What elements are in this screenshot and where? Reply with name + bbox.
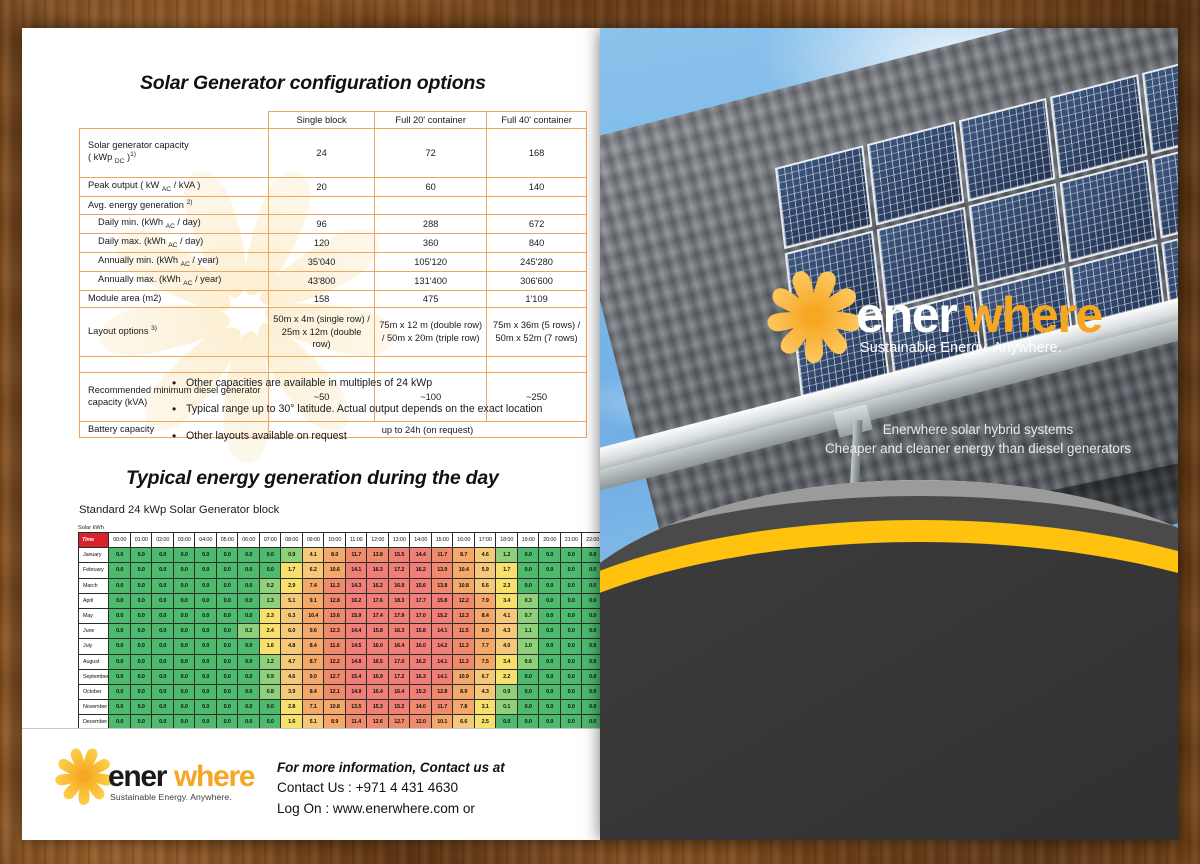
heatmap-cell: 0.0 bbox=[216, 608, 238, 623]
heatmap-cell: 0.0 bbox=[539, 639, 561, 654]
heatmap-cell: 0.0 bbox=[539, 578, 561, 593]
heatmap-cell: 14.5 bbox=[345, 639, 367, 654]
heatmap-cell: 4.6 bbox=[281, 669, 303, 684]
heatmap-cell: 0.0 bbox=[109, 548, 131, 563]
heatmap-month-label: August bbox=[79, 654, 109, 669]
heatmap-cell: 13.5 bbox=[345, 700, 367, 715]
heatmap-cell: 13.8 bbox=[431, 578, 453, 593]
config-row-value: 131'400 bbox=[375, 272, 487, 291]
heatmap-cell: 0.0 bbox=[130, 563, 152, 578]
config-row-value: 1'109 bbox=[487, 291, 587, 308]
heatmap-cell: 14.1 bbox=[431, 654, 453, 669]
heatmap-cell: 16.2 bbox=[345, 593, 367, 608]
config-row-value: 75m x 12 m (double row) / 50m x 20m (tri… bbox=[375, 307, 487, 356]
config-row-value: 35'040 bbox=[269, 252, 375, 271]
heatmap-cell: 0.0 bbox=[130, 669, 152, 684]
heatmap-cell: 0.0 bbox=[582, 578, 600, 593]
heatmap-cell: 6.6 bbox=[474, 578, 496, 593]
heatmap-cell: 0.0 bbox=[238, 669, 260, 684]
table-header-row: Single block Full 20' container Full 40'… bbox=[80, 112, 587, 129]
heatmap-cell: 0.0 bbox=[152, 608, 174, 623]
heatmap-cell: 0.0 bbox=[173, 578, 195, 593]
header-cell-20ft: Full 20' container bbox=[375, 112, 487, 129]
heatmap-cell: 0.0 bbox=[173, 654, 195, 669]
heatmap-cell: 10.4 bbox=[453, 563, 475, 578]
heatmap-hour-header: 15:00 bbox=[431, 533, 453, 548]
heatmap-cell: 1.3 bbox=[259, 593, 281, 608]
heatmap-cell: 5.1 bbox=[281, 593, 303, 608]
heatmap-cell: 0.0 bbox=[517, 563, 539, 578]
heatmap-cell: 12.2 bbox=[324, 654, 346, 669]
heatmap-cell: 0.0 bbox=[173, 624, 195, 639]
brochure-stage: Solar Generator configuration options Si… bbox=[0, 0, 1200, 864]
table-row: August0.00.00.00.00.00.00.01.24.78.712.2… bbox=[79, 654, 601, 669]
heatmap-hour-header: 21:00 bbox=[560, 533, 582, 548]
heatmap-cell: 0.9 bbox=[259, 669, 281, 684]
heatmap-cell: 12.2 bbox=[453, 593, 475, 608]
heatmap-hour-header: 11:00 bbox=[345, 533, 367, 548]
heatmap-cell: 0.0 bbox=[152, 563, 174, 578]
heatmap-month-label: February bbox=[79, 563, 109, 578]
heatmap-cell: 11.3 bbox=[324, 578, 346, 593]
heatmap-cell: 0.0 bbox=[130, 654, 152, 669]
heatmap-cell: 0.0 bbox=[109, 700, 131, 715]
heatmap-cell: 16.0 bbox=[410, 639, 432, 654]
config-row-value: 168 bbox=[487, 129, 587, 178]
heatmap-cell: 16.2 bbox=[367, 578, 389, 593]
config-row-value: 20 bbox=[269, 178, 375, 197]
spacer-cell bbox=[269, 356, 375, 372]
heatmap-cell: 7.1 bbox=[302, 700, 324, 715]
sun-core bbox=[78, 770, 91, 783]
table-row: Peak output ( kW AC / kVA )2060140 bbox=[80, 178, 587, 197]
heatmap-cell: 12.8 bbox=[431, 684, 453, 699]
heatmap-cell: 0.0 bbox=[560, 548, 582, 563]
heatmap-cell: 0.0 bbox=[173, 700, 195, 715]
heatmap-cell: 0.0 bbox=[539, 593, 561, 608]
heatmap-cell: 2.3 bbox=[259, 608, 281, 623]
heatmap-cell: 0.2 bbox=[259, 578, 281, 593]
config-row-value: 75m x 36m (5 rows) / 50m x 52m (7 rows) bbox=[487, 307, 587, 356]
heatmap-cell: 15.2 bbox=[431, 608, 453, 623]
heatmap-cell: 0.0 bbox=[173, 548, 195, 563]
heatmap-cell: 0.0 bbox=[152, 548, 174, 563]
heatmap-cell: 0.0 bbox=[152, 669, 174, 684]
heatmap-cell: 2.3 bbox=[496, 578, 518, 593]
heatmap-cell: 0.0 bbox=[152, 639, 174, 654]
config-row-value: 306'600 bbox=[487, 272, 587, 291]
heatmap-cell: 0.0 bbox=[130, 700, 152, 715]
heatmap-cell: 18.3 bbox=[388, 593, 410, 608]
heatmap-cell: 0.0 bbox=[195, 593, 217, 608]
header-cell-40ft: Full 40' container bbox=[487, 112, 587, 129]
heatmap-cell: 8.4 bbox=[302, 684, 324, 699]
heatmap-cell: 0.0 bbox=[216, 548, 238, 563]
heatmap-cell: 0.0 bbox=[560, 593, 582, 608]
config-row-value: 360 bbox=[375, 233, 487, 252]
config-row-value: 245'280 bbox=[487, 252, 587, 271]
heatmap-cell: 0.0 bbox=[216, 700, 238, 715]
heatmap-cell: 4.7 bbox=[281, 654, 303, 669]
config-row-value: 288 bbox=[375, 214, 487, 233]
heatmap-cell: 0.0 bbox=[109, 578, 131, 593]
heatmap-cell: 0.9 bbox=[496, 684, 518, 699]
heatmap-cell: 0.0 bbox=[238, 548, 260, 563]
heatmap-cell: 4.6 bbox=[474, 548, 496, 563]
heatmap-cell: 16.2 bbox=[410, 563, 432, 578]
heatmap-cell: 0.0 bbox=[517, 669, 539, 684]
heatmap-cell: 15.6 bbox=[410, 578, 432, 593]
heatmap-cell: 6.2 bbox=[302, 563, 324, 578]
heatmap-cell: 3.1 bbox=[474, 700, 496, 715]
heatmap-cell: 0.0 bbox=[109, 639, 131, 654]
config-row-label: Avg. energy generation 2) bbox=[80, 197, 269, 215]
config-row-label: Solar generator capacity( kWp DC )1) bbox=[80, 129, 269, 178]
heatmap-cell: 0.0 bbox=[216, 669, 238, 684]
heatmap-cell: 0.0 bbox=[539, 548, 561, 563]
config-row-value: 672 bbox=[487, 214, 587, 233]
heatmap-month-label: October bbox=[79, 684, 109, 699]
heatmap-cell: 0.0 bbox=[539, 654, 561, 669]
table-row: September0.00.00.00.00.00.00.00.94.69.01… bbox=[79, 669, 601, 684]
heatmap-cell: 0.0 bbox=[539, 624, 561, 639]
heatmap-cell: 0.0 bbox=[582, 684, 600, 699]
table-row: Annually min. (kWh AC / year)35'040105'1… bbox=[80, 252, 587, 271]
heatmap-cell: 16.3 bbox=[367, 563, 389, 578]
heatmap-cell: 0.0 bbox=[582, 654, 600, 669]
heatmap-cell: 1.6 bbox=[259, 639, 281, 654]
heatmap-cell: 16.0 bbox=[367, 639, 389, 654]
config-row-label: Daily max. (kWh AC / day) bbox=[80, 233, 269, 252]
heatmap-cell: 0.0 bbox=[130, 684, 152, 699]
config-row-label: Annually max. (kWh AC / year) bbox=[80, 272, 269, 291]
page-title-config: Solar Generator configuration options bbox=[140, 72, 486, 95]
list-item: Typical range up to 30° latitude. Actual… bbox=[172, 402, 542, 416]
heatmap-hour-header: 07:00 bbox=[259, 533, 281, 548]
heatmap-cell: 16.2 bbox=[410, 654, 432, 669]
heatmap-cell: 0.0 bbox=[173, 608, 195, 623]
heatmap-cell: 0.9 bbox=[281, 548, 303, 563]
heatmap-hour-header: 12:00 bbox=[367, 533, 389, 548]
config-row-value: 158 bbox=[269, 291, 375, 308]
banner-logo-word-where: where bbox=[964, 286, 1102, 344]
heatmap-cell: 2.2 bbox=[496, 669, 518, 684]
heatmap-cell: 1.7 bbox=[281, 563, 303, 578]
heatmap-cell: 13.8 bbox=[367, 548, 389, 563]
header-cell-single-block: Single block bbox=[269, 112, 375, 129]
heatmap-wrap: Time00:0001:0002:0003:0004:0005:0006:000… bbox=[78, 532, 600, 746]
heatmap-cell: 0.0 bbox=[130, 624, 152, 639]
heatmap-cell: 0.0 bbox=[216, 563, 238, 578]
table-row: Solar generator capacity( kWp DC )1)2472… bbox=[80, 129, 587, 178]
heatmap-cell: 17.2 bbox=[388, 563, 410, 578]
table-row: Daily min. (kWh AC / day)96288672 bbox=[80, 214, 587, 233]
heatmap-cell: 0.0 bbox=[582, 624, 600, 639]
heatmap-hour-header: 16:00 bbox=[453, 533, 475, 548]
heatmap-cell: 0.0 bbox=[195, 654, 217, 669]
config-row-value: 475 bbox=[375, 291, 487, 308]
heatmap-cell: 0.0 bbox=[152, 578, 174, 593]
banner-tagline: Enerwhere solar hybrid systems Cheaper a… bbox=[798, 420, 1158, 459]
heatmap-cell: 4.3 bbox=[474, 684, 496, 699]
heatmap-month-label: March bbox=[79, 578, 109, 593]
heatmap-month-label: November bbox=[79, 700, 109, 715]
footer-contact-block: For more information, Contact us at Cont… bbox=[277, 758, 505, 820]
heatmap-cell: 16.3 bbox=[410, 669, 432, 684]
heatmap-cell: 14.1 bbox=[431, 624, 453, 639]
heatmap-cell: 14.1 bbox=[345, 563, 367, 578]
heatmap-cell: 1.0 bbox=[517, 639, 539, 654]
heatmap-cell: 14.1 bbox=[431, 669, 453, 684]
heatmap-month-label: July bbox=[79, 639, 109, 654]
heatmap-cell: 17.4 bbox=[367, 608, 389, 623]
table-row: June0.00.00.00.00.00.00.22.46.09.612.314… bbox=[79, 624, 601, 639]
heatmap-cell: 0.0 bbox=[517, 578, 539, 593]
heatmap-cell: 15.5 bbox=[388, 548, 410, 563]
heatmap-cell: 0.0 bbox=[152, 700, 174, 715]
config-row-value: 24 bbox=[269, 129, 375, 178]
heatmap-cell: 0.0 bbox=[582, 700, 600, 715]
heatmap-month-label: January bbox=[79, 548, 109, 563]
heatmap-cell: 0.0 bbox=[517, 684, 539, 699]
heatmap-cell: 14.8 bbox=[345, 654, 367, 669]
spacer-cell bbox=[487, 356, 587, 372]
heatmap-hour-header: 02:00 bbox=[152, 533, 174, 548]
heatmap-cell: 4.1 bbox=[302, 548, 324, 563]
heatmap-cell: 0.0 bbox=[238, 684, 260, 699]
heatmap-cell: 11.3 bbox=[453, 639, 475, 654]
table-row: October0.00.00.00.00.00.00.00.83.98.412.… bbox=[79, 684, 601, 699]
heatmap-cell: 0.0 bbox=[238, 654, 260, 669]
notes-list: Other capacities are available in multip… bbox=[172, 376, 542, 455]
heatmap-cell: 11.6 bbox=[324, 639, 346, 654]
heatmap-cell: 0.0 bbox=[152, 593, 174, 608]
heatmap-cell: 9.1 bbox=[302, 593, 324, 608]
heatmap-cell: 0.0 bbox=[130, 593, 152, 608]
heatmap-cell: 17.0 bbox=[410, 608, 432, 623]
config-row-value: 96 bbox=[269, 214, 375, 233]
heatmap-cell: 0.0 bbox=[560, 654, 582, 669]
heatmap-hour-header: 04:00 bbox=[195, 533, 217, 548]
heatmap-hour-header: 08:00 bbox=[281, 533, 303, 548]
heatmap-cell: 8.7 bbox=[453, 548, 475, 563]
heatmap-cell: 15.8 bbox=[367, 624, 389, 639]
heatmap-cell: 0.0 bbox=[216, 578, 238, 593]
config-row-value: 50m x 4m (single row) / 25m x 12m (doubl… bbox=[269, 307, 375, 356]
heatmap-cell: 17.6 bbox=[367, 593, 389, 608]
table-row: January0.00.00.00.00.00.00.00.00.94.18.0… bbox=[79, 548, 601, 563]
heatmap-cell: 17.0 bbox=[388, 654, 410, 669]
heatmap-cell: 1.7 bbox=[496, 563, 518, 578]
heatmap-hour-header: 03:00 bbox=[173, 533, 195, 548]
heatmap-cell: 0.0 bbox=[582, 669, 600, 684]
footer-heading: For more information, Contact us at bbox=[277, 758, 505, 778]
heatmap-cell: 0.0 bbox=[195, 700, 217, 715]
heatmap-cell: 7.8 bbox=[453, 700, 475, 715]
heatmap-cell: 0.0 bbox=[259, 563, 281, 578]
heatmap-cell: 0.0 bbox=[560, 563, 582, 578]
heatmap-cell: 1.2 bbox=[259, 654, 281, 669]
heatmap-cell: 15.3 bbox=[410, 684, 432, 699]
heatmap-body: January0.00.00.00.00.00.00.00.00.94.18.0… bbox=[79, 548, 601, 730]
heatmap-hour-header: 20:00 bbox=[539, 533, 561, 548]
heatmap-cell: 1.1 bbox=[517, 624, 539, 639]
heatmap-cell: 3.4 bbox=[496, 593, 518, 608]
heatmap-cell: 7.7 bbox=[474, 639, 496, 654]
heatmap-cell: 16.5 bbox=[367, 654, 389, 669]
heatmap-cell: 0.0 bbox=[238, 578, 260, 593]
heatmap-cell: 0.0 bbox=[109, 684, 131, 699]
heatmap-cell: 0.1 bbox=[496, 700, 518, 715]
heatmap-hour-header: 19:00 bbox=[517, 533, 539, 548]
heatmap-cell: 0.0 bbox=[109, 593, 131, 608]
heatmap-cell: 0.0 bbox=[195, 639, 217, 654]
heatmap-cell: 4.1 bbox=[496, 608, 518, 623]
heatmap-cell: 9.6 bbox=[302, 624, 324, 639]
heatmap-cell: 0.0 bbox=[238, 608, 260, 623]
config-row-value: 105'120 bbox=[375, 252, 487, 271]
banner-tagline-line2: Cheaper and cleaner energy than diesel g… bbox=[798, 439, 1158, 458]
heatmap-header-row: Time00:0001:0002:0003:0004:0005:0006:000… bbox=[79, 533, 601, 548]
table-row: Avg. energy generation 2) bbox=[80, 197, 587, 215]
heatmap-cell: 0.0 bbox=[582, 563, 600, 578]
heatmap-cell: 0.0 bbox=[195, 578, 217, 593]
banner-tagline-line1: Enerwhere solar hybrid systems bbox=[798, 420, 1158, 439]
heatmap-cell: 8.4 bbox=[474, 608, 496, 623]
heatmap-cell: 0.0 bbox=[109, 669, 131, 684]
config-row-label: Annually min. (kWh AC / year) bbox=[80, 252, 269, 271]
sun-icon bbox=[768, 270, 860, 362]
heatmap-cell: 0.0 bbox=[195, 608, 217, 623]
table-row: February0.00.00.00.00.00.00.00.01.76.210… bbox=[79, 563, 601, 578]
heatmap-month-label: May bbox=[79, 608, 109, 623]
heatmap-cell: 16.4 bbox=[388, 684, 410, 699]
heatmap-cell: 0.0 bbox=[517, 700, 539, 715]
heatmap-cell: 0.0 bbox=[238, 593, 260, 608]
config-row-value: 120 bbox=[269, 233, 375, 252]
heatmap-cell: 0.0 bbox=[560, 608, 582, 623]
heatmap-cell: 0.0 bbox=[560, 578, 582, 593]
heatmap-cell: 4.0 bbox=[496, 639, 518, 654]
heatmap-cell: 0.0 bbox=[259, 700, 281, 715]
heatmap-cell: 6.3 bbox=[281, 608, 303, 623]
heatmap-cell: 0.0 bbox=[582, 608, 600, 623]
heatmap-cell: 0.0 bbox=[152, 654, 174, 669]
energy-heatmap-table: Time00:0001:0002:0003:0004:0005:0006:000… bbox=[78, 532, 600, 746]
heatmap-hour-header: 05:00 bbox=[216, 533, 238, 548]
heatmap-cell: 7.5 bbox=[474, 654, 496, 669]
heatmap-cell: 0.0 bbox=[539, 684, 561, 699]
sun-icon bbox=[56, 748, 112, 804]
heatmap-cell: 0.0 bbox=[195, 624, 217, 639]
heatmap-cell: 0.0 bbox=[582, 548, 600, 563]
heatmap-cell: 0.0 bbox=[195, 563, 217, 578]
table-row: Layout options 3)50m x 4m (single row) /… bbox=[80, 307, 587, 356]
banner-logo-word-ener: ener bbox=[856, 286, 956, 344]
heatmap-cell: 2.8 bbox=[281, 700, 303, 715]
heatmap-cell: 15.2 bbox=[388, 700, 410, 715]
heatmap-cell: 0.0 bbox=[109, 563, 131, 578]
footer-phone: Contact Us : +971 4 431 4630 bbox=[277, 778, 505, 799]
heatmap-cell: 4.3 bbox=[496, 624, 518, 639]
heatmap-cell: 8.0 bbox=[474, 624, 496, 639]
heatmap-cell: 0.0 bbox=[173, 684, 195, 699]
config-row-value: 140 bbox=[487, 178, 587, 197]
heatmap-cell: 0.0 bbox=[238, 700, 260, 715]
heatmap-cell: 0.0 bbox=[517, 548, 539, 563]
heatmap-hour-header: 14:00 bbox=[410, 533, 432, 548]
heatmap-cell: 0.3 bbox=[517, 593, 539, 608]
heatmap-cell: 0.0 bbox=[109, 654, 131, 669]
heatmap-cell: 0.0 bbox=[539, 563, 561, 578]
table-row: April0.00.00.00.00.00.00.01.35.19.112.81… bbox=[79, 593, 601, 608]
heatmap-cell: 8.7 bbox=[302, 654, 324, 669]
footer-logo: ener where Sustainable Energy. Anywhere. bbox=[56, 748, 246, 810]
list-item: Other layouts available on request bbox=[172, 429, 542, 443]
heatmap-cell: 0.0 bbox=[130, 608, 152, 623]
heatmap-cell: 0.0 bbox=[109, 624, 131, 639]
config-row-label: Peak output ( kW AC / kVA ) bbox=[80, 178, 269, 197]
heatmap-cell: 12.3 bbox=[324, 624, 346, 639]
config-row-value bbox=[269, 197, 375, 215]
heatmap-hour-header: 09:00 bbox=[302, 533, 324, 548]
heatmap-month-label: April bbox=[79, 593, 109, 608]
heatmap-cell: 11.7 bbox=[431, 700, 453, 715]
heatmap-hour-header: 10:00 bbox=[324, 533, 346, 548]
heatmap-cell: 0.0 bbox=[539, 700, 561, 715]
banner-body bbox=[600, 542, 1178, 840]
heatmap-cell: 2.4 bbox=[259, 624, 281, 639]
heatmap-cell: 9.0 bbox=[302, 669, 324, 684]
heatmap-cell: 8.4 bbox=[302, 639, 324, 654]
heatmap-cell: 0.0 bbox=[259, 548, 281, 563]
config-row-value bbox=[487, 197, 587, 215]
config-row-value: 72 bbox=[375, 129, 487, 178]
config-row-value: 43'800 bbox=[269, 272, 375, 291]
config-row-label: Layout options 3) bbox=[80, 307, 269, 356]
heatmap-cell: 12.3 bbox=[453, 608, 475, 623]
heatmap-cell: 16.4 bbox=[367, 684, 389, 699]
heatmap-cell: 15.8 bbox=[431, 593, 453, 608]
table-row: Annually max. (kWh AC / year)43'800131'4… bbox=[80, 272, 587, 291]
left-page: Solar Generator configuration options Si… bbox=[22, 28, 600, 840]
heatmap-cell: 0.0 bbox=[173, 669, 195, 684]
heatmap-hour-header: 22:00 bbox=[582, 533, 600, 548]
heatmap-cell: 11.7 bbox=[345, 548, 367, 563]
page-title-energy: Typical energy generation during the day bbox=[126, 467, 499, 490]
heatmap-hour-header: 01:00 bbox=[130, 533, 152, 548]
heatmap-corner-label: Time bbox=[79, 533, 109, 548]
heatmap-cell: 10.8 bbox=[324, 700, 346, 715]
heatmap-cell: 14.3 bbox=[345, 578, 367, 593]
heatmap-cell: 0.0 bbox=[152, 684, 174, 699]
heatmap-cell: 0.0 bbox=[195, 684, 217, 699]
heatmap-hour-header: 18:00 bbox=[496, 533, 518, 548]
table-spacer-row bbox=[80, 356, 587, 372]
spacer-cell bbox=[80, 356, 269, 372]
heatmap-cell: 0.0 bbox=[216, 654, 238, 669]
sun-core bbox=[804, 306, 825, 327]
heatmap-cell: 14.4 bbox=[410, 548, 432, 563]
heatmap-cell: 7.4 bbox=[302, 578, 324, 593]
heatmap-cell: 16.3 bbox=[388, 624, 410, 639]
heatmap-cell: 10.4 bbox=[302, 608, 324, 623]
heatmap-month-label: June bbox=[79, 624, 109, 639]
heatmap-cell: 0.0 bbox=[560, 624, 582, 639]
heatmap-hour-header: 13:00 bbox=[388, 533, 410, 548]
heatmap-cell: 13.6 bbox=[324, 608, 346, 623]
table-row: May0.00.00.00.00.00.00.02.36.310.413.615… bbox=[79, 608, 601, 623]
